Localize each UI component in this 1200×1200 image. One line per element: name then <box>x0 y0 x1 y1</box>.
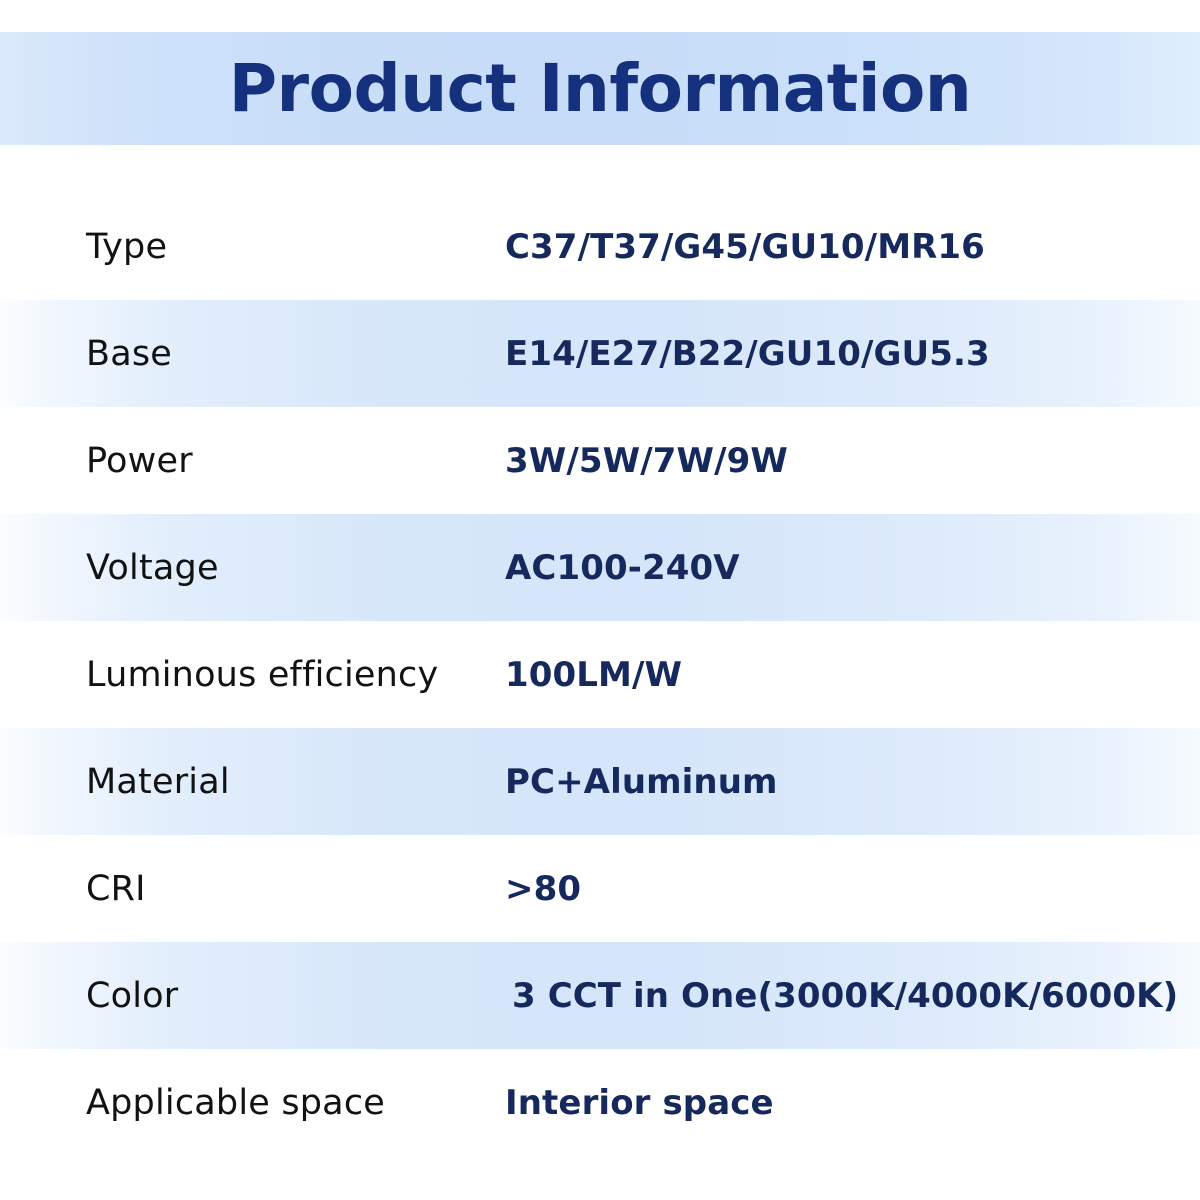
table-row: Power3W/5W/7W/9W <box>0 407 1200 514</box>
table-row: CRI>80 <box>0 835 1200 942</box>
table-row: Luminous efficiency100LM/W <box>0 621 1200 728</box>
spec-label: Applicable space <box>86 1083 385 1123</box>
spec-label: Voltage <box>86 548 219 588</box>
spec-value: 100LM/W <box>505 655 682 695</box>
spec-value: 3 CCT in One(3000K/4000K/6000K) <box>512 976 1178 1016</box>
spec-label: Color <box>86 976 178 1016</box>
table-row: VoltageAC100-240V <box>0 514 1200 621</box>
table-row: Color3 CCT in One(3000K/4000K/6000K) <box>0 942 1200 1049</box>
spec-value: PC+Aluminum <box>505 762 778 802</box>
spec-label: Power <box>86 441 193 481</box>
spec-value: C37/T37/G45/GU10/MR16 <box>505 227 985 267</box>
spec-label: Base <box>86 334 172 374</box>
spec-label: Type <box>86 227 167 267</box>
spec-value: Interior space <box>505 1083 774 1123</box>
spec-label: Luminous efficiency <box>86 655 438 695</box>
specification-table: TypeC37/T37/G45/GU10/MR16BaseE14/E27/B22… <box>0 193 1200 1156</box>
table-row: TypeC37/T37/G45/GU10/MR16 <box>0 193 1200 300</box>
spec-label: Material <box>86 762 230 802</box>
table-row: Applicable spaceInterior space <box>0 1049 1200 1156</box>
table-row: MaterialPC+Aluminum <box>0 728 1200 835</box>
table-row: BaseE14/E27/B22/GU10/GU5.3 <box>0 300 1200 407</box>
spec-value: E14/E27/B22/GU10/GU5.3 <box>505 334 990 374</box>
spec-value: 3W/5W/7W/9W <box>505 441 788 481</box>
spec-value: >80 <box>505 869 581 909</box>
spec-label: CRI <box>86 869 146 909</box>
spec-value: AC100-240V <box>505 548 740 588</box>
page-title: Product Information <box>0 32 1200 145</box>
product-information-page: Product Information TypeC37/T37/G45/GU10… <box>0 0 1200 1200</box>
